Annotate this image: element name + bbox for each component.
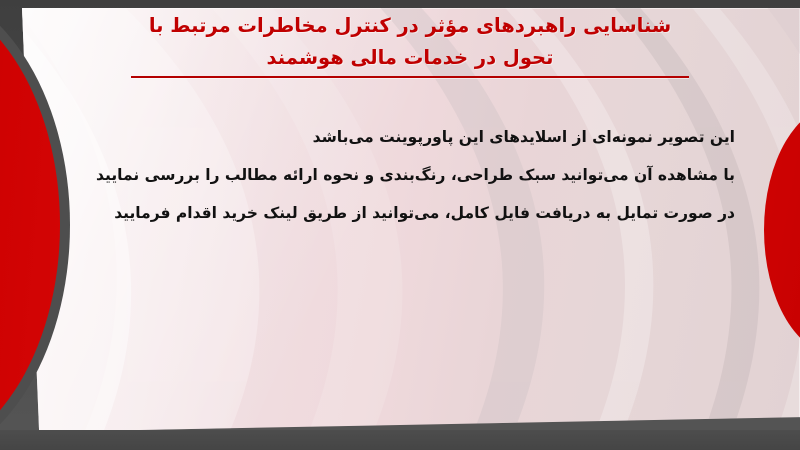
slide-title-block: شناسایی راهبردهای مؤثر در کنترل مخاطرات … [120, 10, 700, 78]
presentation-slide: شناسایی راهبردهای مؤثر در کنترل مخاطرات … [0, 0, 800, 450]
slide-body-block: این تصویر نمونه‌ای از اسلایدهای این پاور… [55, 118, 735, 232]
slide-title-line-2: تحول در خدمات مالی هوشمند [120, 42, 700, 74]
slide-title-line-1: شناسایی راهبردهای مؤثر در کنترل مخاطرات … [120, 10, 700, 42]
slide-bottom-strip [0, 430, 800, 450]
title-underline-rule [131, 76, 689, 78]
slide-body-line-1: این تصویر نمونه‌ای از اسلایدهای این پاور… [55, 118, 735, 156]
slide-body-line-3: در صورت تمایل به دریافت فایل کامل، می‌تو… [55, 194, 735, 232]
slide-body-line-2: با مشاهده آن می‌توانید سبک طراحی، رنگ‌بن… [55, 156, 735, 194]
